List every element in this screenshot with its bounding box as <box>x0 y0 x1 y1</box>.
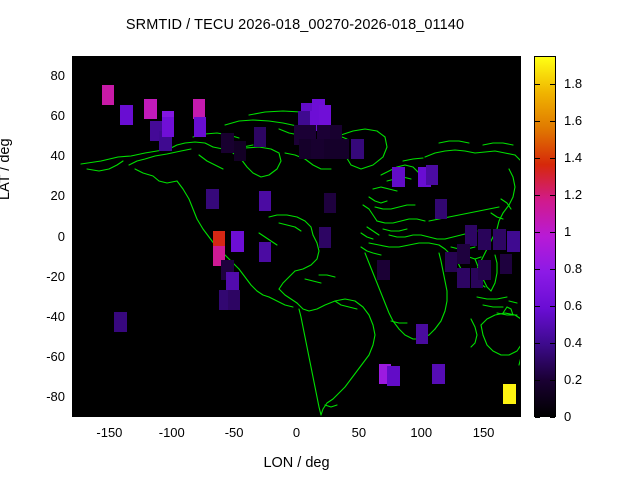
heatmap-cell <box>234 141 246 161</box>
heatmap-cell <box>377 260 389 280</box>
y-axis-tick-label: 80 <box>20 68 65 83</box>
x-axis-tick <box>484 412 485 417</box>
x-axis-tick <box>172 412 173 417</box>
y-axis-tick-label: 40 <box>20 148 65 163</box>
y-axis-tick-label: -40 <box>20 309 65 324</box>
x-axis-tick <box>109 412 110 417</box>
heatmap-cell <box>259 191 271 211</box>
heatmap-cell <box>445 252 457 272</box>
plot-canvas: SRMTID / TECU 2026-018_00270-2026-018_01… <box>0 0 640 480</box>
colorbar-tick-label: 0.4 <box>564 335 582 350</box>
colorbar-tick <box>535 343 540 344</box>
heatmap-cell <box>387 366 399 386</box>
heatmap-plot-area <box>72 56 521 417</box>
colorbar-tick-label: 1.6 <box>564 113 582 128</box>
colorbar-tick <box>535 306 540 307</box>
colorbar-tick <box>550 343 555 344</box>
heatmap-cell <box>162 117 174 137</box>
heatmap-cells <box>73 57 521 417</box>
y-axis-tick-label: 20 <box>20 188 65 203</box>
heatmap-cell <box>478 260 490 280</box>
heatmap-cell <box>311 139 323 159</box>
x-axis-tick-label: 50 <box>329 425 389 440</box>
colorbar-tick <box>550 380 555 381</box>
heatmap-cell <box>435 199 447 219</box>
heatmap-cell <box>319 105 331 125</box>
x-axis-tick-label: -50 <box>204 425 264 440</box>
colorbar-tick <box>550 195 555 196</box>
y-axis-tick-label: 0 <box>20 229 65 244</box>
colorbar-tick-label: 1.8 <box>564 76 582 91</box>
x-axis-tick <box>297 412 298 417</box>
colorbar <box>534 56 556 417</box>
colorbar-tick <box>535 195 540 196</box>
heatmap-cell <box>392 167 404 187</box>
colorbar-tick <box>535 417 540 418</box>
colorbar-tick <box>535 84 540 85</box>
heatmap-cell <box>144 99 156 119</box>
colorbar-tick <box>550 232 555 233</box>
colorbar-tick <box>535 121 540 122</box>
colorbar-tick-label: 0.8 <box>564 261 582 276</box>
colorbar-tick <box>550 417 555 418</box>
heatmap-cell <box>336 139 348 159</box>
y-axis-tick <box>72 237 77 238</box>
heatmap-cell <box>299 139 311 159</box>
heatmap-cell <box>457 244 469 264</box>
heatmap-cell <box>478 229 490 249</box>
x-axis-tick-label: 0 <box>267 425 327 440</box>
x-axis-tick <box>359 412 360 417</box>
x-axis-tick-label: -150 <box>79 425 139 440</box>
heatmap-cell <box>259 242 271 262</box>
x-axis-tick-label: 150 <box>454 425 514 440</box>
y-axis-tick <box>72 357 77 358</box>
heatmap-cell <box>114 312 126 332</box>
colorbar-tick-label: 0.2 <box>564 372 582 387</box>
y-axis-tick-label: -20 <box>20 269 65 284</box>
heatmap-cell <box>500 254 512 274</box>
colorbar-tick-label: 0.6 <box>564 298 582 313</box>
y-axis-title: LAT / deg <box>0 138 13 200</box>
x-axis-tick <box>421 412 422 417</box>
y-axis-tick <box>72 76 77 77</box>
heatmap-cell <box>254 127 266 147</box>
heatmap-cell <box>206 189 218 209</box>
y-axis-tick <box>72 196 77 197</box>
heatmap-cell <box>324 193 336 213</box>
heatmap-cell <box>503 384 515 404</box>
colorbar-tick <box>535 380 540 381</box>
heatmap-cell <box>231 231 243 251</box>
colorbar-tick <box>535 158 540 159</box>
colorbar-tick <box>535 269 540 270</box>
y-axis-tick <box>72 156 77 157</box>
colorbar-tick <box>550 269 555 270</box>
colorbar-tick <box>550 84 555 85</box>
colorbar-tick <box>550 306 555 307</box>
colorbar-tick-label: 0 <box>564 409 571 424</box>
y-axis-tick <box>72 317 77 318</box>
x-axis-title: LON / deg <box>72 455 521 471</box>
heatmap-cell <box>493 229 505 249</box>
heatmap-cell <box>319 227 331 247</box>
heatmap-cell <box>221 133 233 153</box>
heatmap-cell <box>193 99 205 119</box>
heatmap-cell <box>102 85 114 105</box>
heatmap-cell <box>457 268 469 288</box>
colorbar-gradient <box>535 57 555 416</box>
y-axis-tick-label: -80 <box>20 389 65 404</box>
y-axis-tick-label: 60 <box>20 108 65 123</box>
heatmap-cell <box>507 231 519 251</box>
colorbar-tick <box>550 158 555 159</box>
heatmap-cell <box>432 364 444 384</box>
heatmap-cell <box>120 105 132 125</box>
heatmap-cell <box>426 165 438 185</box>
colorbar-tick <box>535 232 540 233</box>
y-axis-tick <box>72 277 77 278</box>
x-axis-tick-label: 100 <box>391 425 451 440</box>
heatmap-cell <box>194 117 206 137</box>
heatmap-cell <box>324 139 336 159</box>
heatmap-cell <box>226 272 238 292</box>
heatmap-cell <box>228 290 240 310</box>
y-axis-tick <box>72 397 77 398</box>
colorbar-tick-label: 1.4 <box>564 150 582 165</box>
colorbar-tick-label: 1 <box>564 224 571 239</box>
colorbar-tick-label: 1.2 <box>564 187 582 202</box>
x-axis-tick <box>234 412 235 417</box>
chart-title: SRMTID / TECU 2026-018_00270-2026-018_01… <box>0 17 590 33</box>
y-axis-tick-label: -60 <box>20 349 65 364</box>
heatmap-cell <box>465 225 477 245</box>
heatmap-cell <box>416 324 428 344</box>
x-axis-tick-label: -100 <box>142 425 202 440</box>
colorbar-tick <box>550 121 555 122</box>
y-axis-tick <box>72 116 77 117</box>
heatmap-cell <box>351 139 363 159</box>
